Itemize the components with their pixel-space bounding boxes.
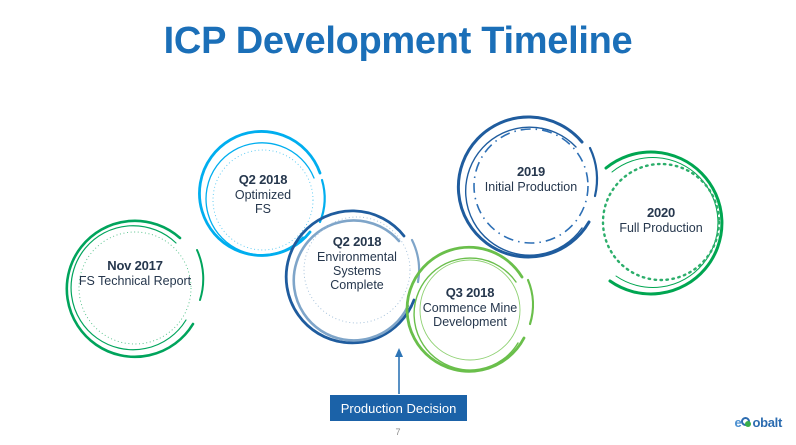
node-year: Q2 2018 bbox=[295, 235, 419, 250]
node-label-q2-2018-fs: Q2 2018 Optimized FS bbox=[203, 173, 323, 216]
node-label-nov-2017: Nov 2017 FS Technical Report bbox=[55, 259, 215, 288]
node-description: Initial Production bbox=[466, 180, 596, 194]
node-description-line-1: Commence Mine bbox=[402, 301, 538, 315]
node-year: Nov 2017 bbox=[55, 259, 215, 274]
page-number: 7 bbox=[0, 427, 796, 437]
node-label-2019: 2019 Initial Production bbox=[466, 165, 596, 194]
production-decision-label: Production Decision bbox=[341, 401, 457, 416]
node-description-line-2: Systems bbox=[295, 264, 419, 278]
logo-text-before: e bbox=[735, 415, 742, 430]
node-description-line-3: Complete bbox=[295, 278, 419, 292]
slide-canvas: ICP Development Timeline bbox=[0, 0, 796, 445]
node-year: 2019 bbox=[466, 165, 596, 180]
node-description-line-1: Environmental bbox=[295, 250, 419, 264]
node-description-line-2: FS bbox=[203, 202, 323, 216]
node-year: Q3 2018 bbox=[402, 286, 538, 301]
node-label-2020: 2020 Full Production bbox=[595, 206, 727, 235]
node-description: Full Production bbox=[595, 221, 727, 235]
node-description-line-2: Development bbox=[402, 315, 538, 329]
ecobalt-logo: eobalt bbox=[735, 415, 783, 430]
node-description: FS Technical Report bbox=[55, 274, 215, 288]
cobalt-circle-icon bbox=[741, 417, 752, 428]
production-decision-callout[interactable]: Production Decision bbox=[330, 395, 467, 421]
node-label-q2-2018-env: Q2 2018 Environmental Systems Complete bbox=[295, 235, 419, 292]
production-decision-arrow bbox=[395, 348, 403, 394]
node-year: Q2 2018 bbox=[203, 173, 323, 188]
node-year: 2020 bbox=[595, 206, 727, 221]
node-description-line-1: Optimized bbox=[203, 188, 323, 202]
node-label-q3-2018: Q3 2018 Commence Mine Development bbox=[402, 286, 538, 329]
timeline-node-nov-2017[interactable] bbox=[67, 221, 203, 357]
logo-text-after: obalt bbox=[752, 415, 782, 430]
